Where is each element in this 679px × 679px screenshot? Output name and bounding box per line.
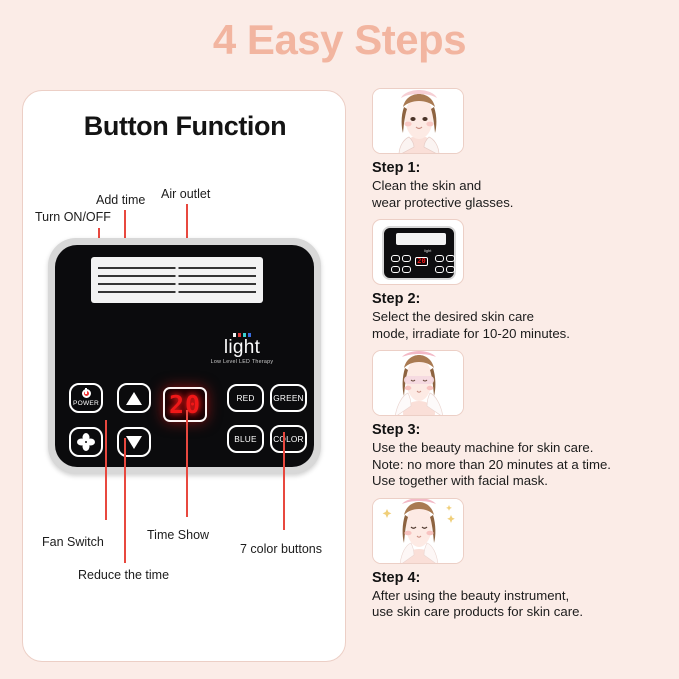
step-1-title: Step 1:	[372, 160, 662, 176]
annotation-time-show: Time Show	[147, 528, 209, 542]
step-3-thumbnail	[372, 350, 464, 416]
step-2-body: Select the desired skin care mode, irrad…	[372, 309, 662, 342]
steps-column: Step 1: Clean the skin and wear protecti…	[372, 88, 662, 629]
green-button-label: GREEN	[273, 393, 304, 403]
triangle-up-icon	[126, 392, 142, 405]
up-arrow-button[interactable]	[117, 383, 151, 413]
step-1-body: Clean the skin and wear protective glass…	[372, 178, 662, 211]
step-3: Step 3: Use the beauty machine for skin …	[372, 350, 662, 490]
brand-subtitle: Low Level LED Therapy	[187, 359, 297, 365]
triangle-down-icon	[126, 436, 142, 449]
color-cycle-button[interactable]: COLOR	[270, 425, 307, 453]
mini-button	[391, 266, 400, 273]
step-4-title: Step 4:	[372, 570, 662, 586]
mini-button	[391, 255, 400, 262]
annotation-7-color-buttons: 7 color buttons	[240, 542, 322, 556]
page-title: 4 Easy Steps	[0, 16, 679, 64]
mini-device-illustration: light 20	[382, 226, 456, 280]
mini-grille	[396, 233, 446, 245]
leader-line-fan	[105, 420, 107, 520]
step-2: light 20 Step 2: Select the desired skin…	[372, 219, 662, 342]
device-front-panel: light Low Level LED Therapy POWER	[55, 245, 314, 467]
grille-slot	[98, 275, 256, 278]
red-button-label: RED	[236, 393, 254, 403]
leader-line-color-buttons	[283, 432, 285, 530]
blue-color-button[interactable]: BLUE	[227, 425, 264, 453]
blue-button-label: BLUE	[234, 434, 256, 444]
grille-slot	[98, 283, 256, 286]
annotation-fan-switch: Fan Switch	[42, 535, 104, 549]
mini-time-display: 20	[415, 257, 428, 266]
power-button[interactable]: POWER	[69, 383, 103, 413]
time-display-value: 20	[169, 392, 201, 417]
woman-washing-face-icon	[373, 89, 464, 154]
step-2-title: Step 2:	[372, 291, 662, 307]
power-button-label: POWER	[73, 400, 99, 407]
color-button-label: COLOR	[273, 434, 304, 444]
annotation-turn-on-off: Turn ON/OFF	[35, 210, 111, 224]
step-4: Step 4: After using the beauty instrumen…	[372, 498, 662, 621]
mini-button	[402, 255, 411, 262]
led-therapy-device: light Low Level LED Therapy POWER	[48, 238, 321, 474]
mini-button	[435, 266, 444, 273]
leader-line-reduce-time	[124, 438, 126, 563]
grille-slot	[98, 267, 256, 270]
leader-line-time-show	[186, 410, 188, 517]
woman-skincare-icon	[373, 499, 464, 564]
annotation-add-time: Add time	[96, 193, 145, 207]
step-1-thumbnail	[372, 88, 464, 154]
fan-button[interactable]	[69, 427, 103, 457]
down-arrow-button[interactable]	[117, 427, 151, 457]
mini-button	[446, 266, 455, 273]
air-outlet-grille	[91, 257, 263, 303]
mini-brand-name: light	[424, 248, 431, 253]
annotation-air-outlet: Air outlet	[161, 187, 210, 201]
step-1: Step 1: Clean the skin and wear protecti…	[372, 88, 662, 211]
green-color-button[interactable]: GREEN	[270, 384, 307, 412]
red-color-button[interactable]: RED	[227, 384, 264, 412]
time-display: 20	[163, 387, 207, 422]
step-4-body: After using the beauty instrument, use s…	[372, 588, 662, 621]
mini-button	[435, 255, 444, 262]
step-2-thumbnail: light 20	[372, 219, 464, 285]
power-icon	[82, 389, 91, 398]
brand-logo: light Low Level LED Therapy	[187, 333, 297, 365]
step-3-title: Step 3:	[372, 422, 662, 438]
grille-slot	[98, 291, 256, 294]
mini-button	[446, 255, 455, 262]
woman-led-mask-icon	[373, 351, 464, 416]
fan-icon	[77, 433, 95, 451]
annotation-reduce-the-time: Reduce the time	[78, 568, 169, 582]
brand-name: light	[187, 338, 297, 357]
step-4-thumbnail	[372, 498, 464, 564]
mini-button	[402, 266, 411, 273]
product-infographic: 4 Easy Steps Button Function Turn ON/OFF…	[0, 0, 679, 679]
step-3-body: Use the beauty machine for skin care. No…	[372, 440, 662, 490]
card-heading: Button Function	[23, 111, 347, 142]
